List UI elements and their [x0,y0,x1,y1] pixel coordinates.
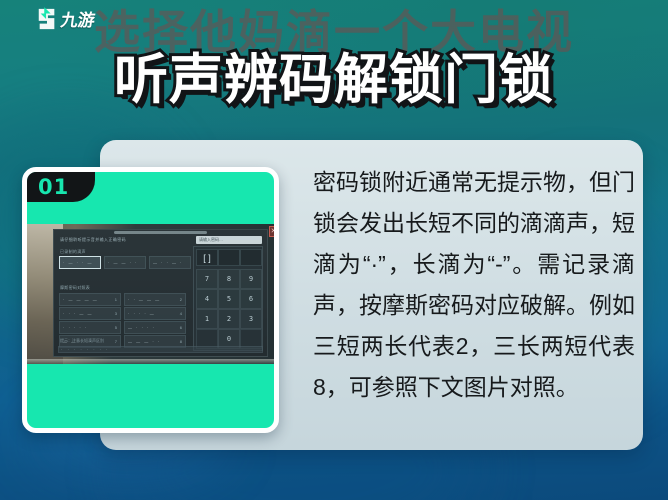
window-title: 请仔细聆听提示音并输入正确密码 [60,237,126,243]
keypad-key-6[interactable]: 6 [240,289,262,309]
morse-pattern: · · · · · [63,325,88,330]
morse-pattern: · · — — — [128,297,161,302]
progress-bar: · · · · · · · · [58,346,263,353]
morse-pattern: · · · · — [128,311,155,316]
screenshot-bottom-edge [27,359,274,364]
keypad-key-1[interactable]: 1 [196,309,218,329]
window-drag-handle[interactable] [114,231,208,234]
password-input[interactable]: 请输入密码… [196,236,262,244]
body-paragraph: 密码锁附近通常无提示物，但门锁会发出长短不同的滴滴声，短滴为“·”，长滴为“-”… [313,162,635,408]
morse-digit: 2 [180,297,182,302]
password-digit-3 [240,249,262,266]
numeric-keypad[interactable]: 请输入密码… [ ] 7 8 9 4 5 6 1 2 [193,246,263,351]
morse-table-label: 摩斯密码对照表 [60,285,90,291]
morse-pattern: — — — · · [128,339,161,344]
password-digit-1: [ ] [196,249,218,266]
recorded-slot-1-pattern: · — · · — [63,260,93,265]
recorded-slot-3-pattern: — · · — · [153,260,183,265]
morse-row: · · · · · 5 [59,321,121,334]
recorded-slot-3[interactable]: — · · — · [149,256,191,269]
morse-digit: 1 [115,297,117,302]
image-card[interactable]: 01 请仔细聆听提示音并输入正确密码 金币 0 已录制的滴声 · — · · —… [22,167,279,433]
keypad-key-7[interactable]: 7 [196,269,218,289]
morse-digit: 3 [115,311,117,316]
recorded-slot-2-pattern: · — — · · [108,260,138,265]
recorded-section-label: 已录制的滴声 [60,249,86,255]
brand-logo[interactable]: 九游 [33,4,101,33]
keypad-key-5[interactable]: 5 [218,289,240,309]
poster-canvas: 选择他妈滴一个大电视 九游 听声辨码解锁门锁 密码锁附近通常无提示物，但门锁会发… [0,0,668,500]
password-display: [ ] [196,249,262,266]
morse-digit: 4 [180,311,182,316]
morse-row: · — — — — 1 [59,293,121,306]
keypad-key-4[interactable]: 4 [196,289,218,309]
morse-digit: 5 [115,325,117,330]
keypad-key-8[interactable]: 8 [218,269,240,289]
morse-row: · · · · — 4 [124,307,186,320]
page-title: 听声辨码解锁门锁 [0,48,668,112]
morse-row: · · — — — 2 [124,293,186,306]
keypad-key-3[interactable]: 3 [240,309,262,329]
recorded-slot-1[interactable]: · — · · — [59,256,101,269]
morse-row: — · · · · 6 [124,321,186,334]
recorded-slot-2[interactable]: · — — · · [104,256,146,269]
game-screenshot: 请仔细聆听提示音并输入正确密码 金币 0 已录制的滴声 · — · · — · … [27,224,274,364]
jiuyou-logo-icon [36,7,58,31]
morse-digit: 7 [115,339,117,344]
morse-pattern: · · · — — [63,311,93,316]
brand-logo-text: 九游 [59,6,97,31]
morse-pattern: · — — — — [63,297,98,302]
close-icon[interactable]: ✕ [269,226,274,237]
password-digit-2 [218,249,240,266]
step-badge: 01 [27,172,95,202]
morse-digit: 6 [180,325,182,330]
lock-puzzle-window: 请仔细聆听提示音并输入正确密码 金币 0 已录制的滴声 · — · · — · … [53,229,268,357]
keypad-grid: 7 8 9 4 5 6 1 2 3 0 [196,269,262,349]
hint-text: 提示：注意长短滴声区别 [60,338,104,344]
morse-pattern: — · · · · [128,325,155,330]
keypad-key-9[interactable]: 9 [240,269,262,289]
morse-row: · · · — — 3 [59,307,121,320]
morse-digit: 8 [180,339,182,344]
keypad-key-2[interactable]: 2 [218,309,240,329]
